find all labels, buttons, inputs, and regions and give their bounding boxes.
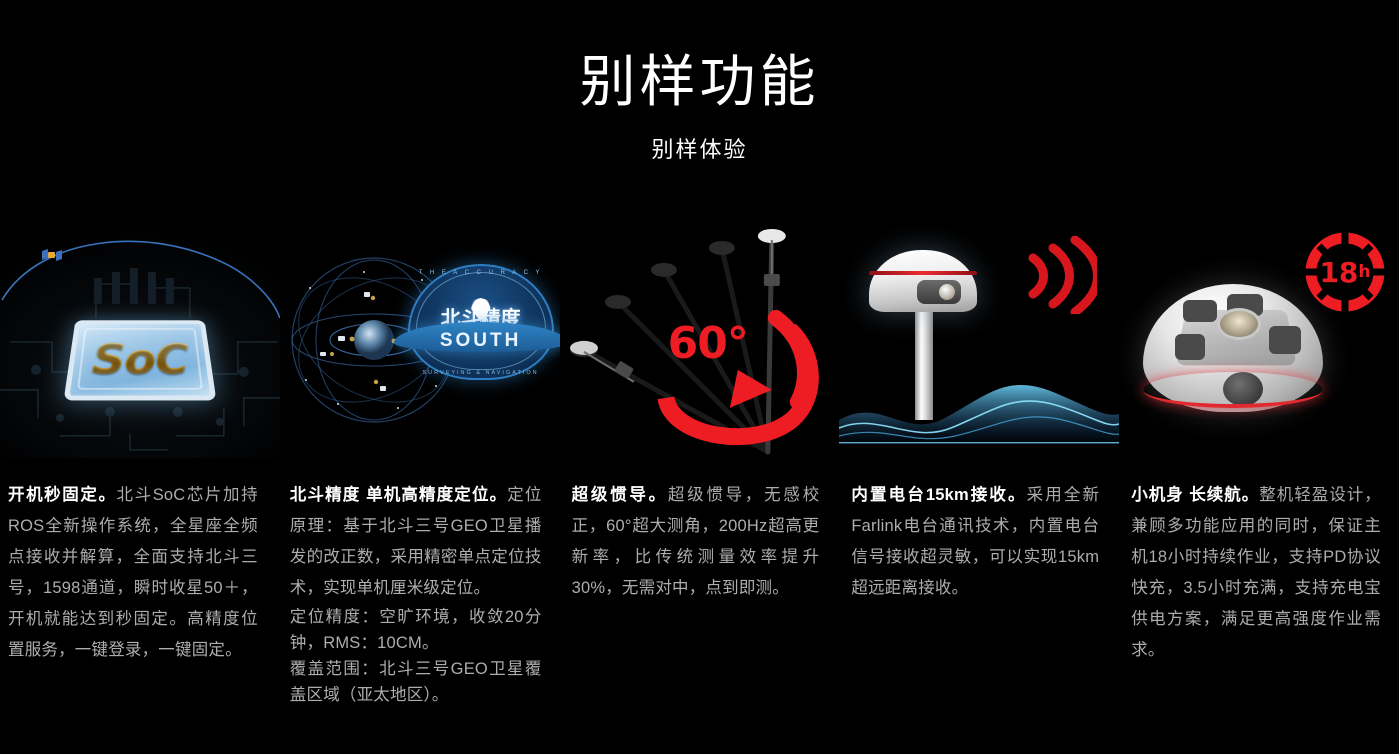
receiver-lens (917, 280, 961, 304)
tilt-angle-label: 60° (668, 318, 748, 369)
feature-column-beidou: T H E A C C U R A C Y 北斗精度 SOUTH SURVEYI… (280, 222, 560, 708)
feature-caption-battery: 小机身 长续航。整机轻盈设计，兼顾多功能应用的同时，保证主机18小时持续作业，支… (1119, 480, 1399, 666)
south-accuracy-badge: T H E A C C U R A C Y 北斗精度 SOUTH SURVEYI… (408, 264, 554, 380)
gnss-receiver-signal-illustration (839, 222, 1119, 458)
base-tripod-screw (1217, 308, 1261, 340)
page-title: 别样功能 (0, 50, 1399, 114)
badge-brand-text: SOUTH (408, 330, 554, 352)
battery-unit: h (1358, 262, 1370, 282)
feature-caption-radio: 内置电台15km接收。采用全新Farlink电台通讯技术，内置电台信号接收超灵敏… (839, 480, 1119, 604)
feature-caption-imu: 超级惯导。超级惯导，无感校正，60°超大测角，200Hz超高更新率，比传统测量效… (560, 480, 840, 604)
tilt-survey-pole-illustration: 60° (560, 222, 840, 458)
base-red-ring (1143, 372, 1323, 408)
receiver-base-battery-illustration: 18h (1119, 222, 1399, 458)
battery-18h-badge: 18h (1305, 232, 1385, 312)
blue-wave-graphic (839, 358, 1119, 448)
feature-lead: 内置电台15km接收。 (851, 486, 1026, 504)
feature-body: 北斗SoC芯片加持ROS全新操作系统，全星座全频点接收并解算，全面支持北斗三号，… (8, 486, 258, 659)
feature-column-battery: 18h 小机身 长续航。整机轻盈设计，兼顾多功能应用的同时，保证主机18小时持续… (1119, 222, 1399, 666)
feature-lead: 超级惯导。 (572, 486, 668, 504)
base-pad-3 (1175, 334, 1205, 360)
feature-lead: 小机身 长续航。 (1131, 486, 1259, 504)
page-subtitle: 别样体验 (0, 136, 1399, 164)
feature-highlights-page: 别样功能 别样体验 (0, 0, 1399, 754)
battery-badge-label: 18h (1305, 232, 1385, 312)
feature-columns: SoC 开机秒固定。北斗SoC芯片加持ROS全新操作系统，全星座全频点接收并解算… (0, 222, 1399, 708)
chip-label: SoC (90, 335, 189, 384)
base-pad-4 (1269, 326, 1301, 354)
feature-caption-soc: 开机秒固定。北斗SoC芯片加持ROS全新操作系统，全星座全频点接收并解算，全面支… (0, 480, 280, 666)
feature-extra-coverage: 覆盖范围：北斗三号GEO卫星覆盖区域（亚太地区）。 (290, 656, 542, 708)
feature-body: 整机轻盈设计，兼顾多功能应用的同时，保证主机18小时持续作业，支持PD协议快充，… (1131, 486, 1381, 659)
feature-lead: 开机秒固定。 (8, 486, 117, 504)
battery-hours: 18 (1319, 256, 1358, 289)
feature-extra-accuracy: 定位精度：空旷环境，收敛20分钟，RMS：10CM。 (290, 604, 542, 656)
radio-waves-icon (1025, 236, 1097, 314)
page-header: 别样功能 别样体验 (0, 0, 1399, 164)
badge-top-text: T H E A C C U R A C Y (408, 270, 554, 276)
soc-chip-illustration: SoC (0, 222, 280, 458)
feature-column-imu: 60° 超级惯导。超级惯导，无感校正，60°超大测角，200Hz超高更新率，比传… (560, 222, 840, 604)
feature-column-soc: SoC 开机秒固定。北斗SoC芯片加持ROS全新操作系统，全星座全频点接收并解算… (0, 222, 280, 666)
beidou-constellation-illustration: T H E A C C U R A C Y 北斗精度 SOUTH SURVEYI… (280, 222, 560, 458)
receiver-pole (915, 310, 933, 420)
feature-lead: 北斗精度 单机高精度定位。 (290, 486, 507, 504)
base-pad-1 (1183, 300, 1217, 322)
badge-bottom-text: SURVEYING & NAVIGATION (408, 370, 554, 376)
feature-column-radio: 内置电台15km接收。采用全新Farlink电台通讯技术，内置电台信号接收超灵敏… (839, 222, 1119, 604)
feature-caption-beidou: 北斗精度 单机高精度定位。定位原理：基于北斗三号GEO卫星播发的改正数，采用精密… (280, 480, 560, 708)
receiver-red-band (869, 271, 977, 275)
